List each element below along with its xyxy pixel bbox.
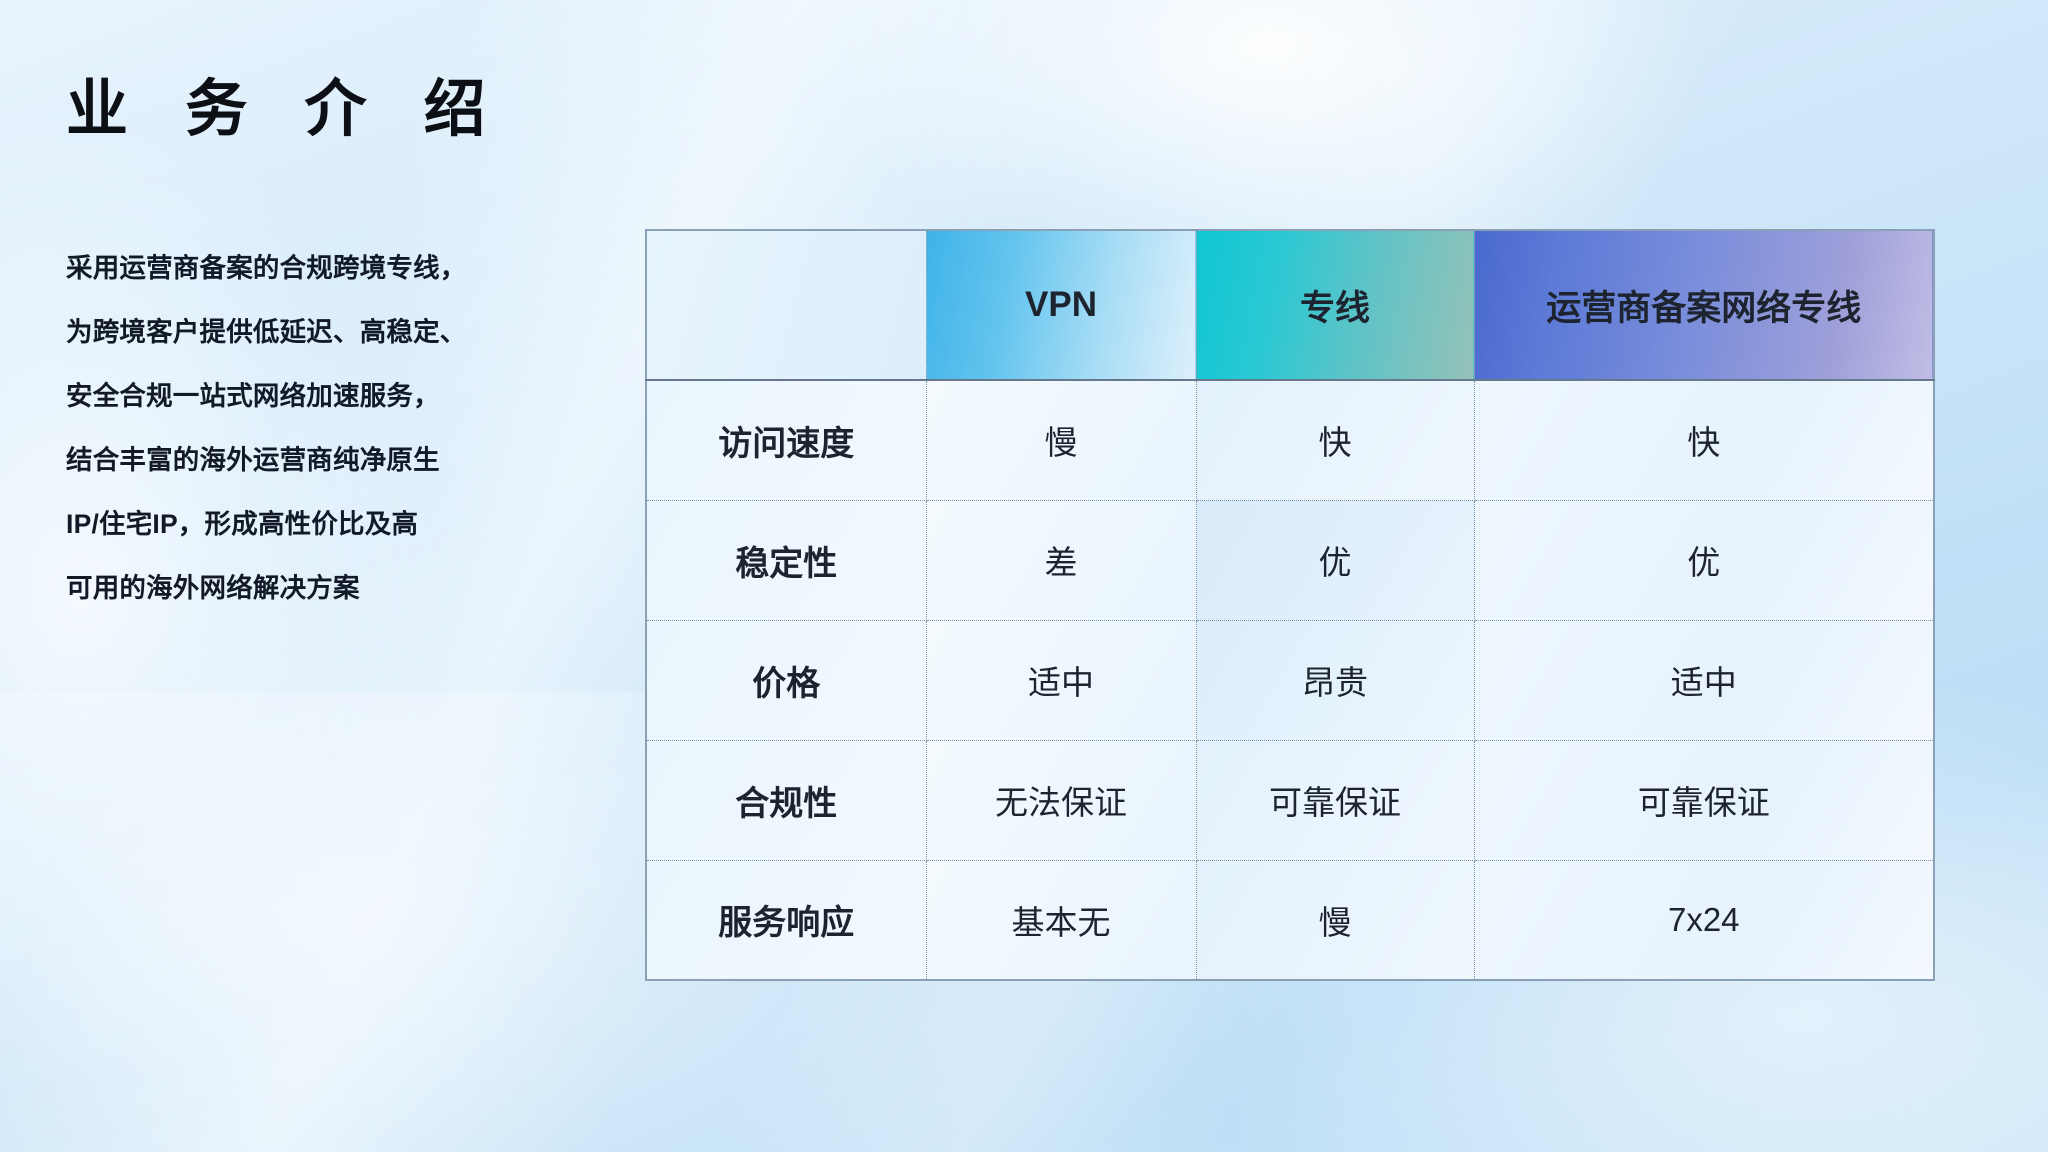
- intro-line: 结合丰富的海外运营商纯净原生: [66, 428, 626, 492]
- table-header: VPN 专线 运营商备案网络专线: [646, 230, 1934, 380]
- cell-dedicated-line: 昂贵: [1196, 620, 1474, 740]
- table-row: 服务响应 基本无 慢 7x24: [646, 860, 1934, 980]
- table-row: 稳定性 差 优 优: [646, 500, 1934, 620]
- table-row: 价格 适中 昂贵 适中: [646, 620, 1934, 740]
- cell-vpn: 适中: [926, 620, 1196, 740]
- cell-carrier-filed-line: 适中: [1474, 620, 1934, 740]
- row-label-service-response: 服务响应: [646, 860, 926, 980]
- row-label-stability: 稳定性: [646, 500, 926, 620]
- cell-vpn: 基本无: [926, 860, 1196, 980]
- comparison-table: VPN 专线 运营商备案网络专线 访问速度 慢 快 快 稳定性 差 优 优: [645, 229, 1935, 981]
- cell-dedicated-line: 可靠保证: [1196, 740, 1474, 860]
- cell-dedicated-line: 快: [1196, 380, 1474, 500]
- table-header-cell-dedicated-line: 专线: [1196, 230, 1474, 380]
- table-body: 访问速度 慢 快 快 稳定性 差 优 优 价格 适中 昂贵 适中: [646, 380, 1934, 980]
- cell-dedicated-line: 慢: [1196, 860, 1474, 980]
- table-header-cell-carrier-filed-line: 运营商备案网络专线: [1474, 230, 1934, 380]
- comparison-table-wrapper: VPN 专线 运营商备案网络专线 访问速度 慢 快 快 稳定性 差 优 优: [645, 229, 1933, 981]
- intro-line: 安全合规一站式网络加速服务，: [66, 364, 626, 428]
- table-header-row: VPN 专线 运营商备案网络专线: [646, 230, 1934, 380]
- slide-canvas: 业 务 介 绍 采用运营商备案的合规跨境专线， 为跨境客户提供低延迟、高稳定、 …: [0, 0, 2048, 1152]
- row-label-compliance: 合规性: [646, 740, 926, 860]
- cell-dedicated-line: 优: [1196, 500, 1474, 620]
- intro-line: 采用运营商备案的合规跨境专线，: [66, 236, 626, 300]
- row-label-access-speed: 访问速度: [646, 380, 926, 500]
- cell-carrier-filed-line: 快: [1474, 380, 1934, 500]
- cell-carrier-filed-line: 优: [1474, 500, 1934, 620]
- intro-line: IP/住宅IP，形成高性价比及高: [66, 492, 626, 556]
- intro-line: 为跨境客户提供低延迟、高稳定、: [66, 300, 626, 364]
- cell-carrier-filed-line: 7x24: [1474, 860, 1934, 980]
- page-title: 业 务 介 绍: [66, 58, 506, 148]
- intro-line: 可用的海外网络解决方案: [66, 556, 626, 620]
- table-header-cell-blank: [646, 230, 926, 380]
- table-header-cell-vpn: VPN: [926, 230, 1196, 380]
- cell-carrier-filed-line: 可靠保证: [1474, 740, 1934, 860]
- table-row: 合规性 无法保证 可靠保证 可靠保证: [646, 740, 1934, 860]
- cell-vpn: 慢: [926, 380, 1196, 500]
- table-row: 访问速度 慢 快 快: [646, 380, 1934, 500]
- intro-paragraph: 采用运营商备案的合规跨境专线， 为跨境客户提供低延迟、高稳定、 安全合规一站式网…: [66, 236, 626, 620]
- row-label-price: 价格: [646, 620, 926, 740]
- cell-vpn: 差: [926, 500, 1196, 620]
- cell-vpn: 无法保证: [926, 740, 1196, 860]
